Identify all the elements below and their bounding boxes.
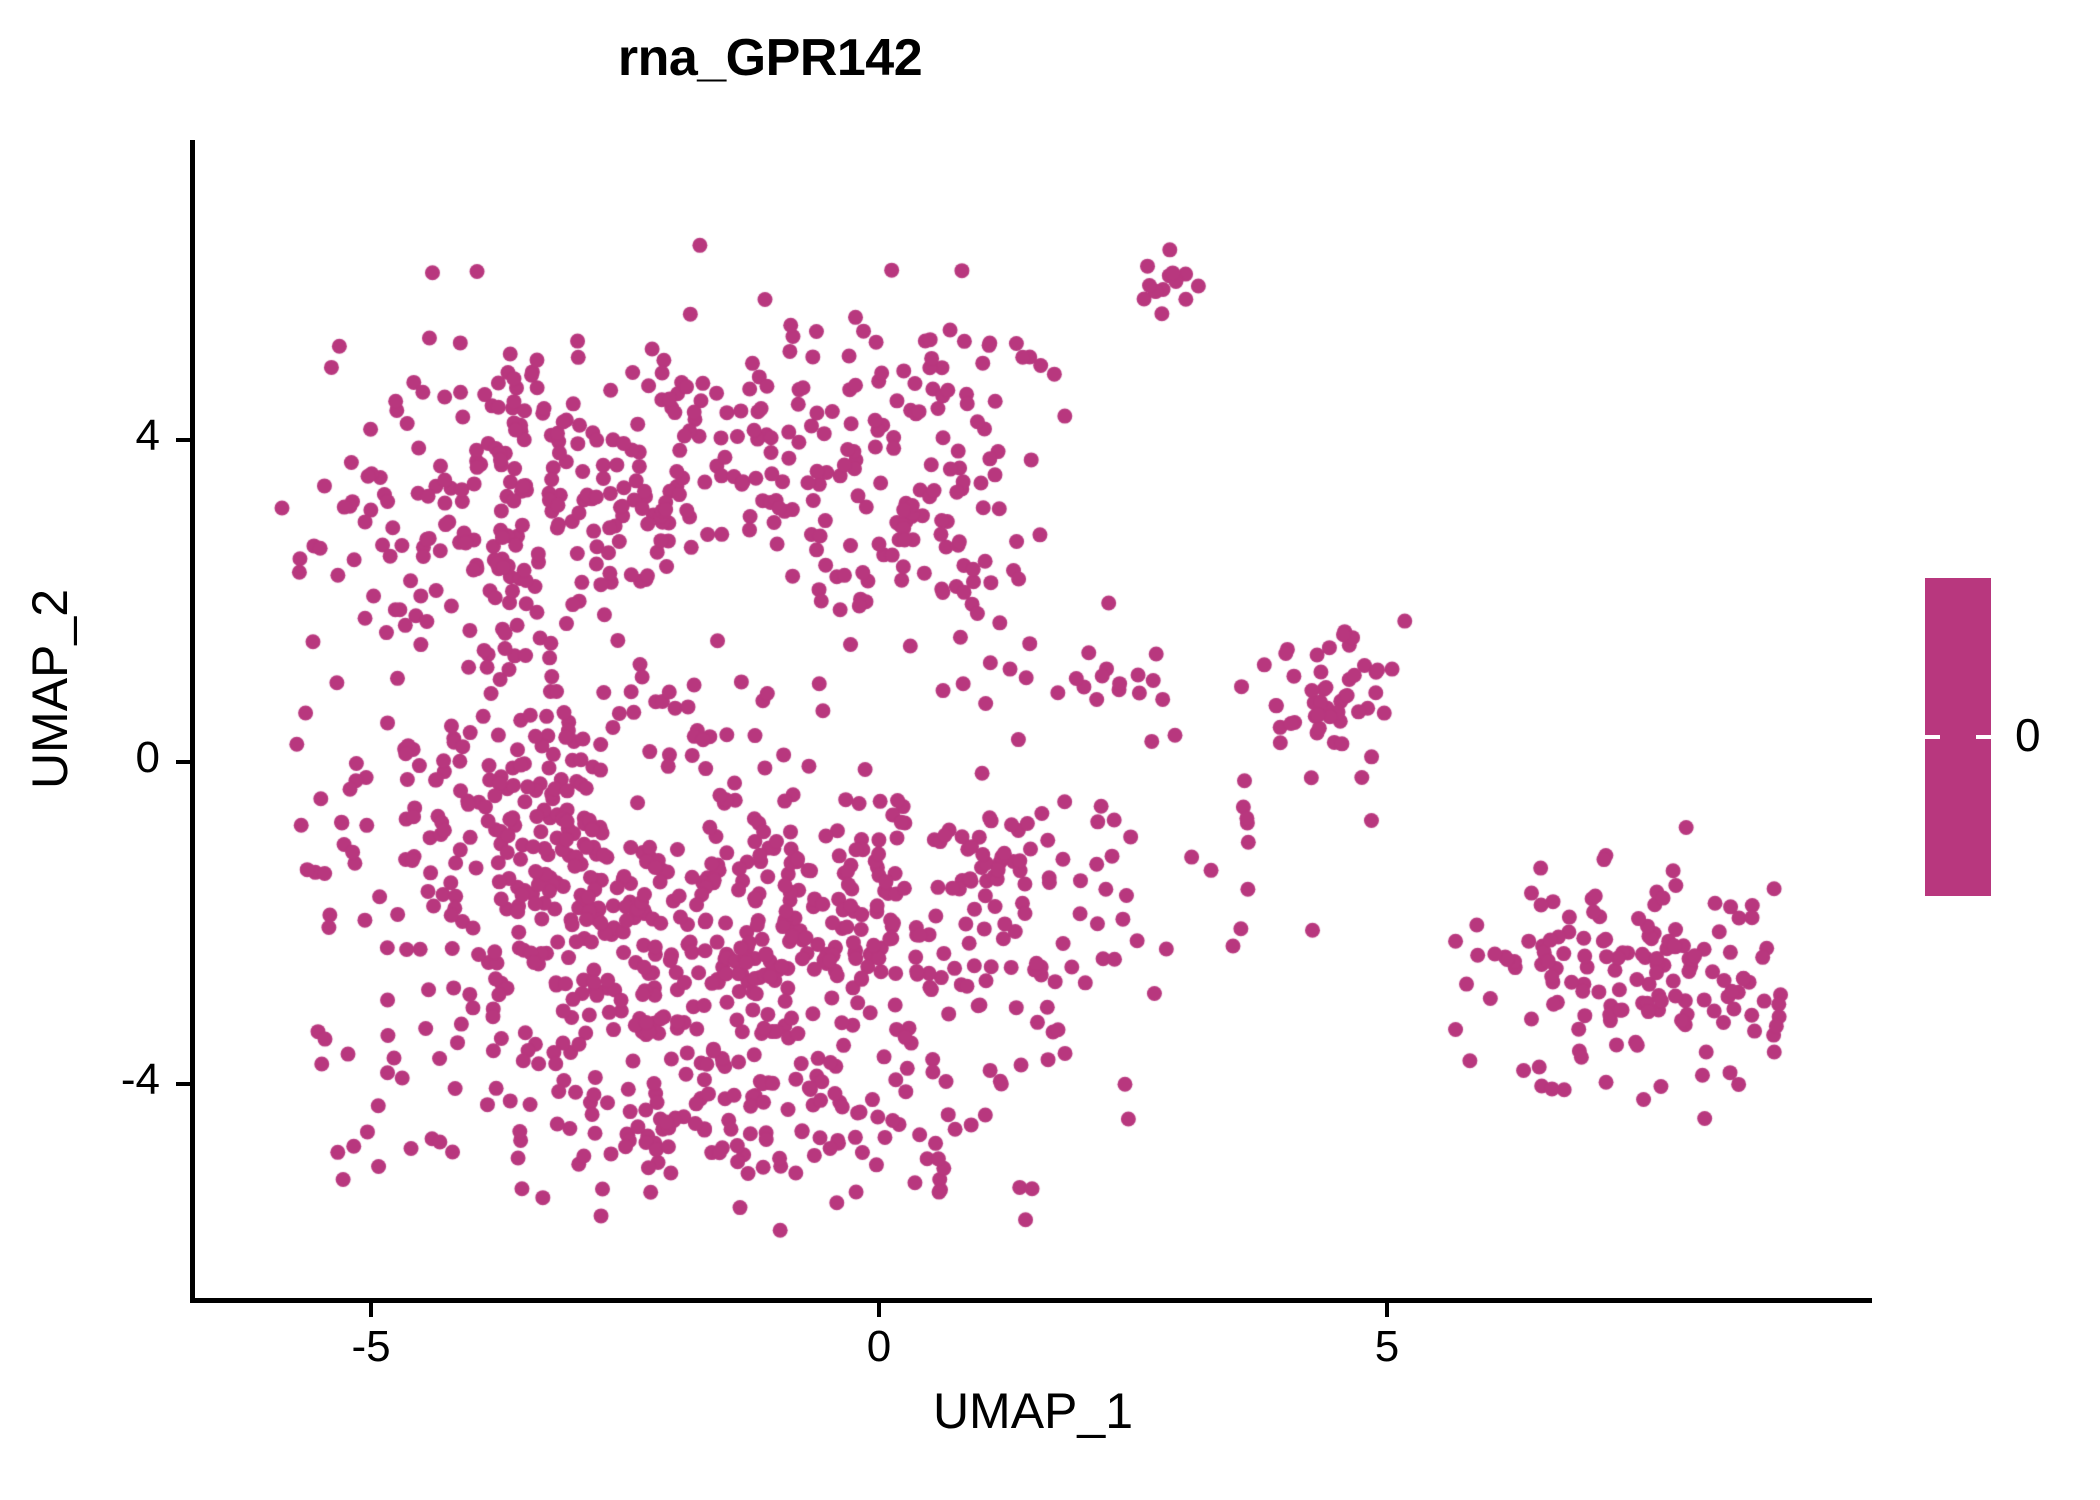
chart-root: rna_GPR142 -404 -505 UMAP_2 UMAP_1 0 — [0, 0, 2100, 1500]
x-tick-label: 0 — [779, 1322, 979, 1372]
x-tick-mark — [369, 1303, 373, 1317]
legend-tick-mark — [1925, 735, 1991, 739]
scatter-plot-points — [0, 0, 2100, 1500]
y-tick-mark — [176, 1082, 190, 1086]
legend-tick-segment-right — [1976, 735, 1991, 739]
x-axis-title: UMAP_1 — [194, 1382, 1872, 1440]
x-tick-label: -5 — [271, 1322, 471, 1372]
y-axis-title: UMAP_2 — [21, 449, 79, 929]
y-tick-mark — [176, 760, 190, 764]
y-tick-mark — [176, 438, 190, 442]
y-axis-line — [190, 140, 195, 1303]
legend-tick-label: 0 — [2015, 708, 2041, 762]
x-tick-label: 5 — [1287, 1322, 1487, 1372]
x-axis-line — [190, 1298, 1872, 1303]
x-tick-mark — [877, 1303, 881, 1317]
legend-tick-segment-left — [1925, 735, 1940, 739]
x-tick-mark — [1385, 1303, 1389, 1317]
y-tick-label: -4 — [0, 1055, 160, 1105]
